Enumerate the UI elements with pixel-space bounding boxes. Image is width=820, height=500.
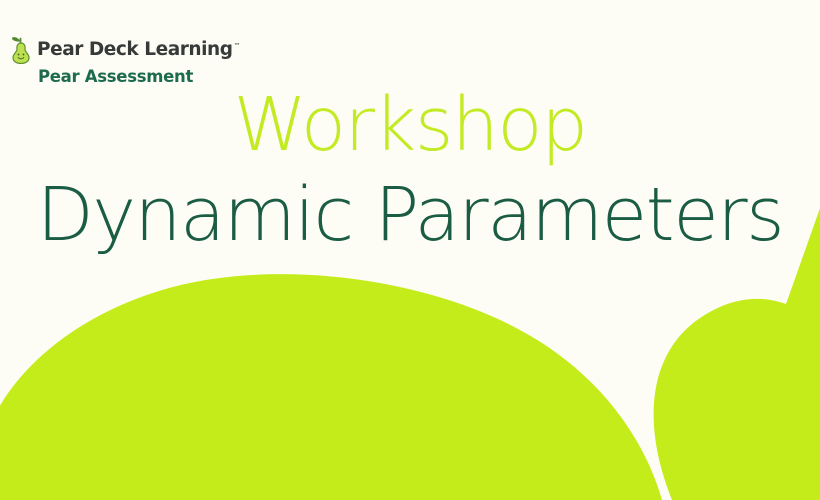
brand-logo: Pear Deck Learning™ Pear Assessment (10, 36, 240, 86)
pear-logo-icon (10, 36, 32, 64)
brand-wordmark: Pear Deck Learning™ (37, 41, 240, 60)
product-name: Pear Assessment (38, 69, 193, 86)
brand-wordmark-text: Pear Deck Learning (37, 39, 233, 60)
title-slide: Pear Deck Learning™ Pear Assessment Work… (0, 0, 820, 500)
pear-blob-left (0, 274, 662, 500)
trademark-symbol: ™ (234, 42, 241, 50)
page-title: Workshop (0, 88, 820, 162)
page-subtitle: Dynamic Parameters (0, 178, 820, 252)
brand-logo-row: Pear Deck Learning™ (10, 36, 240, 64)
pear-blob-right-lobe (768, 288, 820, 424)
